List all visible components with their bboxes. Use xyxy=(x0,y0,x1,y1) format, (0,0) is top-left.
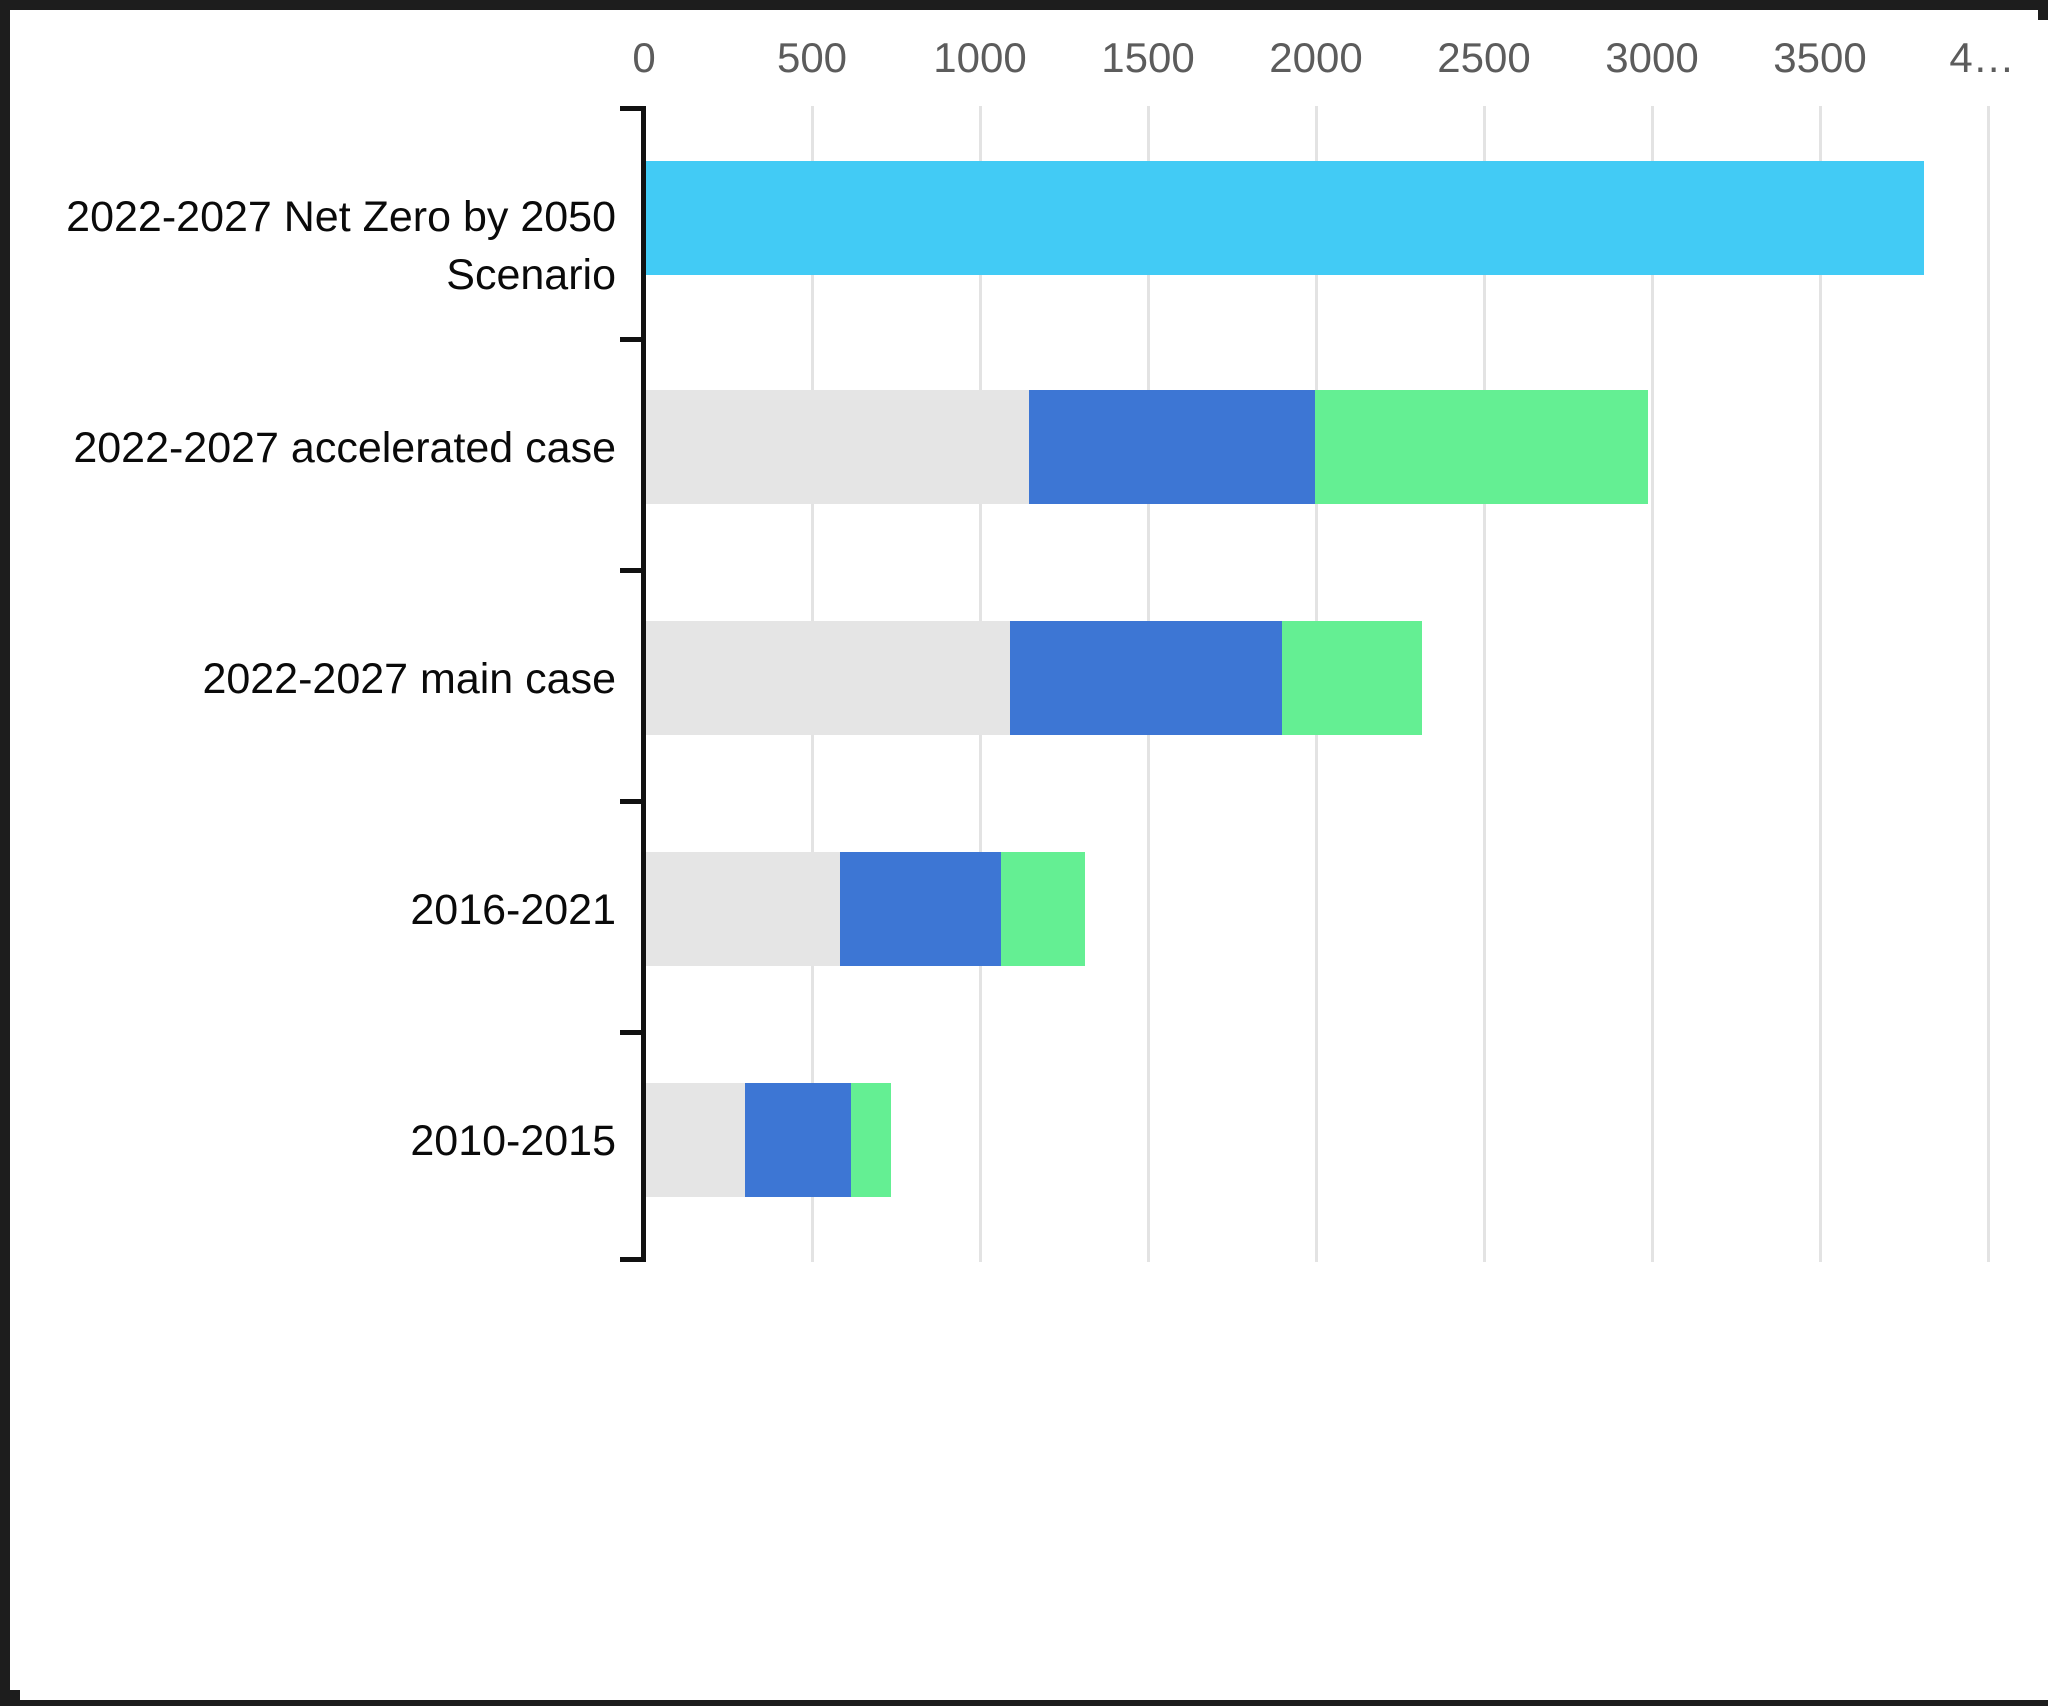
bar-segment-net-zero[interactable] xyxy=(646,161,1924,275)
bar-segment-2-2010-2015[interactable] xyxy=(745,1083,851,1197)
y-category-label-2010-2015: 2010-2015 xyxy=(20,1112,616,1170)
chart-window-frame: 0 500 1000 1500 2000 2500 3000 3500 4… xyxy=(0,0,2048,1706)
y-axis-tick-1 xyxy=(620,337,646,342)
y-axis-tick-3 xyxy=(620,799,646,804)
y-axis-tick-4 xyxy=(620,1030,646,1035)
y-category-label-accelerated: 2022-2027 accelerated case xyxy=(20,419,616,477)
bar-segment-1-accelerated[interactable] xyxy=(646,390,1029,504)
bar-segment-1-main-case[interactable] xyxy=(646,621,1010,735)
bar-segment-3-2010-2015[interactable] xyxy=(851,1083,891,1197)
gridline-4000 xyxy=(1987,106,1990,1262)
bar-segment-3-2016-2021[interactable] xyxy=(1001,852,1085,966)
gridline-3500 xyxy=(1819,106,1822,1262)
gridline-2500 xyxy=(1483,106,1486,1262)
bar-segment-3-accelerated[interactable] xyxy=(1315,390,1648,504)
gridline-3000 xyxy=(1651,106,1654,1262)
bar-segment-1-2010-2015[interactable] xyxy=(646,1083,745,1197)
y-axis-tick-0 xyxy=(620,106,646,111)
y-category-label-main-case: 2022-2027 main case xyxy=(20,650,616,708)
plot-area: 2022-2027 Net Zero by 2050 Scenario 2022… xyxy=(20,20,2048,1700)
y-category-label-net-zero: 2022-2027 Net Zero by 2050 Scenario xyxy=(20,188,616,304)
y-axis-tick-2 xyxy=(620,568,646,573)
bar-segment-2-2016-2021[interactable] xyxy=(840,852,1001,966)
bar-segment-3-main-case[interactable] xyxy=(1282,621,1422,735)
bar-segment-2-accelerated[interactable] xyxy=(1029,390,1315,504)
y-category-label-2016-2021: 2016-2021 xyxy=(20,881,616,939)
y-axis-tick-5 xyxy=(620,1257,646,1262)
bar-segment-2-main-case[interactable] xyxy=(1010,621,1282,735)
bar-segment-1-2016-2021[interactable] xyxy=(646,852,840,966)
chart-canvas: 0 500 1000 1500 2000 2500 3000 3500 4… xyxy=(20,20,2048,1700)
